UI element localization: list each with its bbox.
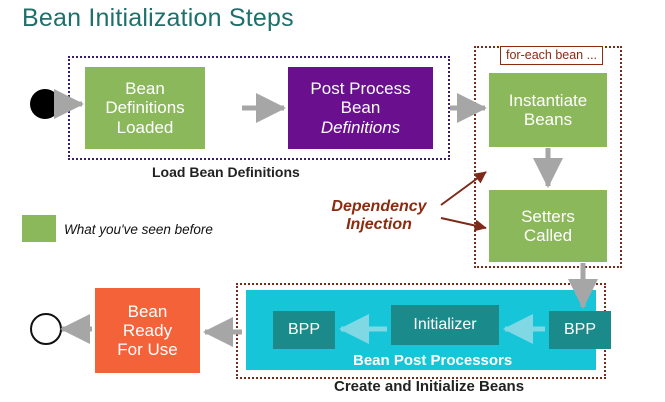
start-state-circle bbox=[30, 89, 60, 119]
node-bean-definitions-loaded-line1: Bean bbox=[125, 79, 165, 98]
for-each-bean-label: for-each bean ... bbox=[500, 46, 603, 65]
node-bean-definitions-loaded-line2: Definitions bbox=[105, 98, 184, 117]
node-initializer-label: Initializer bbox=[413, 316, 476, 334]
node-post-process-line1: Post Process bbox=[310, 79, 410, 98]
node-instantiate-beans-line1: Instantiate bbox=[509, 91, 587, 110]
end-state-circle bbox=[30, 313, 62, 345]
caption-bean-post-processors: Bean Post Processors bbox=[353, 352, 512, 369]
node-bean-ready-line2: Ready bbox=[123, 321, 172, 340]
caption-create-and-initialize-beans: Create and Initialize Beans bbox=[334, 378, 524, 395]
node-bpp-right: BPP bbox=[549, 311, 611, 349]
node-bean-definitions-loaded-line3: Loaded bbox=[117, 118, 174, 137]
caption-load-bean-definitions: Load Bean Definitions bbox=[152, 164, 300, 180]
node-post-process-line3: Definitions bbox=[321, 118, 400, 137]
page-title: Bean Initialization Steps bbox=[22, 4, 294, 33]
legend-label: What you've seen before bbox=[64, 222, 213, 237]
node-bean-ready-for-use: Bean Ready For Use bbox=[95, 288, 200, 373]
node-instantiate-beans-line2: Beans bbox=[524, 110, 572, 129]
node-post-process-line2: Bean bbox=[341, 98, 381, 117]
node-post-process-bean-definitions: Post Process Bean Definitions bbox=[288, 67, 433, 149]
legend-swatch bbox=[22, 215, 56, 242]
node-bpp-left: BPP bbox=[273, 311, 335, 349]
node-setters-called: Setters Called bbox=[489, 190, 607, 262]
diagram-canvas: Bean Initialization Steps for-each bean … bbox=[0, 0, 665, 402]
label-dependency-injection-line1: Dependency bbox=[319, 198, 439, 216]
node-bean-definitions-loaded: Bean Definitions Loaded bbox=[85, 67, 205, 149]
node-instantiate-beans: Instantiate Beans bbox=[489, 73, 607, 147]
node-initializer: Initializer bbox=[391, 305, 499, 345]
node-bean-ready-line1: Bean bbox=[128, 302, 168, 321]
node-setters-called-line1: Setters bbox=[521, 207, 575, 226]
node-setters-called-line2: Called bbox=[524, 226, 572, 245]
node-bpp-right-label: BPP bbox=[564, 321, 596, 339]
label-dependency-injection: Dependency Injection bbox=[319, 198, 439, 235]
node-bpp-left-label: BPP bbox=[288, 321, 320, 339]
label-dependency-injection-line2: Injection bbox=[319, 216, 439, 234]
node-bean-ready-line3: For Use bbox=[117, 340, 177, 359]
